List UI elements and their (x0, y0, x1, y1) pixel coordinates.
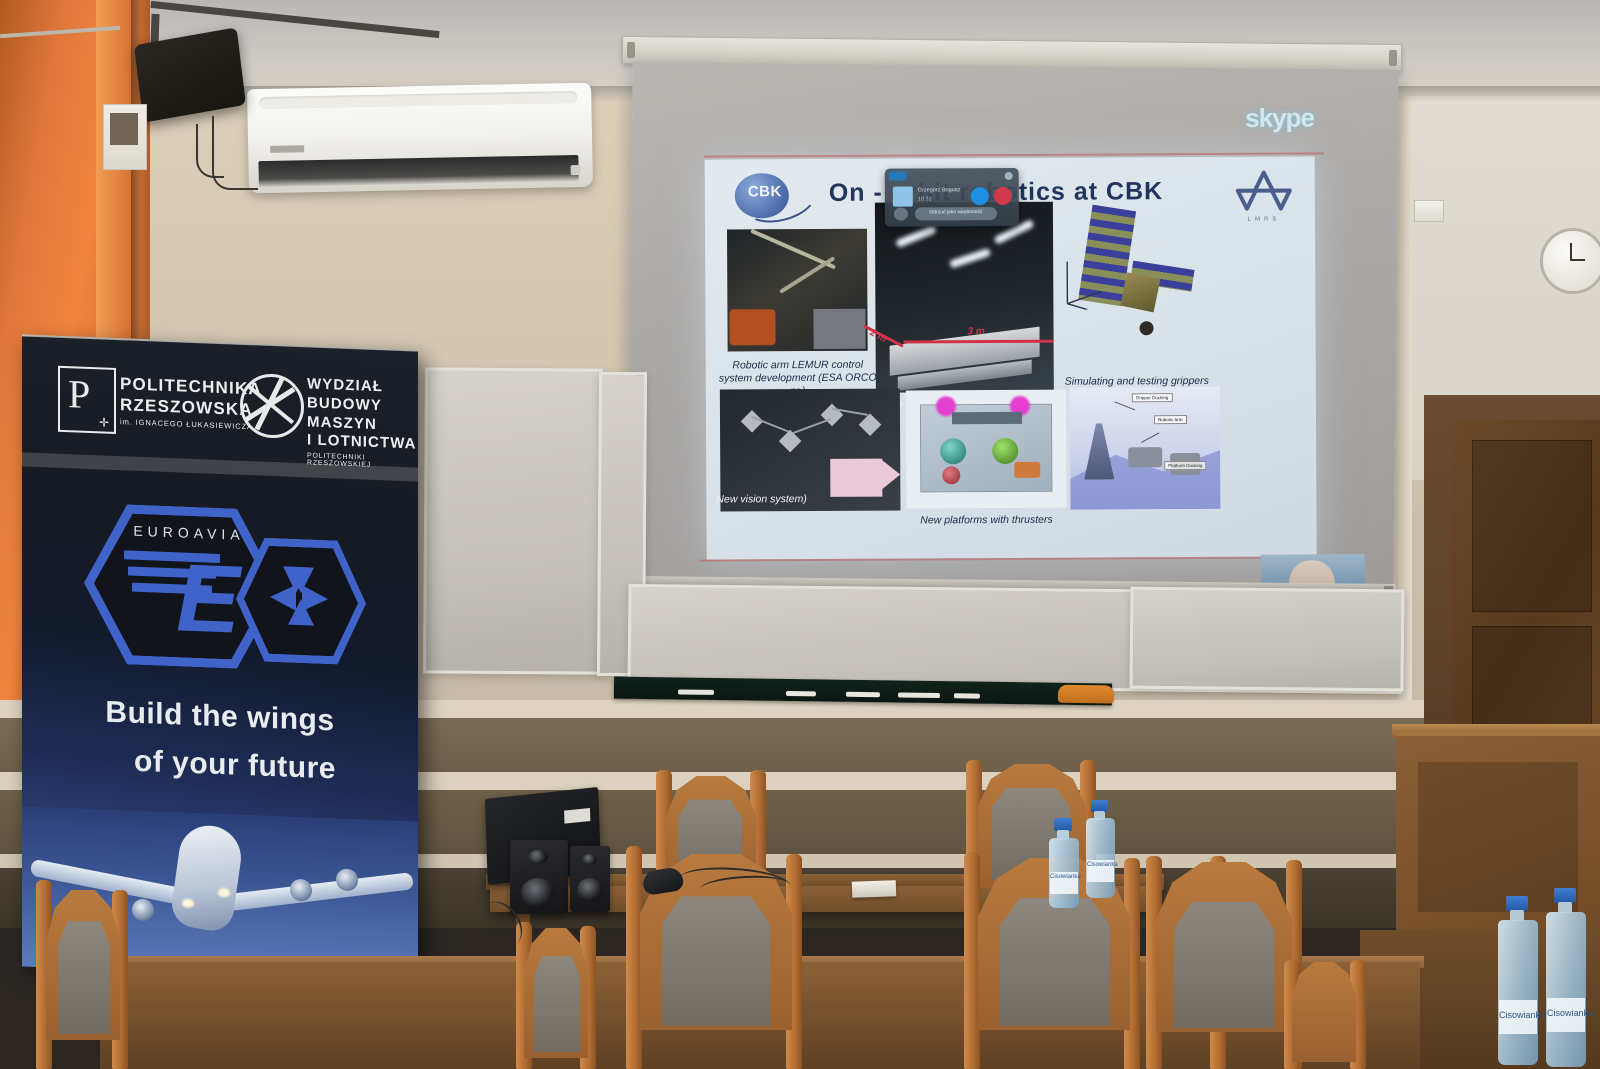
vision-marker-4 (859, 413, 882, 436)
avatar (893, 186, 913, 206)
platform-component-orange (1014, 462, 1040, 478)
berthing-tower (1084, 423, 1114, 479)
caption-thrusters: New platforms with thrusters (906, 514, 1066, 528)
satellite-bus (1120, 272, 1160, 312)
euroavia-emblem: EUROAVIA E (84, 503, 374, 694)
lecture-hall-photo: skype CBK On - orbit robotics at CBK LMR… (0, 0, 1600, 1069)
skype-incoming-call-popup[interactable]: Grzegorz Bogusz 18:31 Odrzuć jako wiadom… (885, 168, 1019, 227)
bottle-label-text: Cisowianka (1050, 874, 1078, 880)
paper-stack[interactable] (852, 880, 897, 898)
berthing-leader-2 (1141, 433, 1159, 443)
coordinate-axes-icon (1061, 255, 1105, 309)
airplane-landing-light-1 (218, 888, 230, 897)
satellite-antenna-dish (1139, 321, 1153, 335)
bottle-label-text: Cisowianka (1499, 1010, 1537, 1020)
vision-marker-2 (779, 430, 802, 453)
faculty-name-block: WYDZIAŁ BUDOWY MASZYN I LOTNICTWA POLITE… (307, 375, 418, 470)
lemur-arm-photo (727, 229, 868, 352)
door-panel-upper (1472, 440, 1592, 612)
chair-back-pad (534, 950, 580, 1052)
laptop-sticker (564, 808, 590, 824)
platform-component-green (992, 438, 1018, 464)
berthing-concept-diagram: Gripper Docking Robotic Arm Platform Doc… (1070, 387, 1221, 510)
chair-post-left (626, 846, 642, 1069)
projector-cable-2 (196, 124, 224, 178)
speaker-left-tweeter (528, 850, 548, 864)
marker-1[interactable] (678, 689, 714, 695)
faculty-name-line2: BUDOWY MASZYN (307, 394, 418, 436)
wall-box-panel (110, 113, 138, 145)
platform-component-teal (940, 438, 966, 464)
airplane-wing-right (218, 872, 414, 912)
light-switch-upper[interactable] (1414, 200, 1444, 222)
marker-4[interactable] (898, 692, 940, 698)
tagline-line2: of your future (22, 740, 418, 789)
dimension-label-3m: 3 m (968, 326, 985, 337)
airplane-engine-4 (336, 868, 358, 891)
platform-component-red (942, 466, 960, 484)
ceiling-light-glow-1 (895, 225, 937, 248)
tagline-line1: Build the wings (22, 692, 418, 741)
bottle-label-text: Cisowianka (1547, 1008, 1585, 1018)
skype-logo-icon (889, 172, 907, 181)
berthing-label-platform: Platform Docking (1164, 461, 1206, 470)
ac-vent (258, 155, 578, 187)
clock-hand-hour (1571, 259, 1585, 261)
faculty-name-line3: I LOTNICTWA (307, 432, 418, 455)
ac-indicator (571, 165, 581, 175)
ceiling-light-glow-2 (949, 248, 991, 269)
chair-backrest (1292, 962, 1356, 1062)
marker-2[interactable] (786, 691, 816, 696)
wall-utility-box (103, 104, 147, 170)
lemur-equipment-box (813, 309, 865, 349)
chair-back-pad (1174, 894, 1274, 1028)
air-conditioner (247, 83, 593, 194)
airplane-engine-3 (290, 879, 312, 902)
ac-brand-logo (270, 145, 304, 153)
euroavia-rollup-banner: P ✛ POLITECHNIKA RZESZOWSKA im. IGNACEGO… (22, 336, 418, 981)
platform-thrusters-diagram (906, 390, 1067, 509)
vision-pink-arrow (880, 459, 900, 491)
skype-reply-message-label: Odrzuć jako wiadomość (915, 209, 997, 215)
skype-call-status: 18:31 (918, 195, 932, 203)
screen-housing-end-left (627, 42, 635, 58)
screen-housing-end-right (1389, 50, 1397, 66)
pr-monogram-glyph: P (68, 374, 90, 415)
politechnika-rzeszowska-logo: P ✛ (58, 366, 116, 434)
skype-watermark: skype (1245, 103, 1314, 134)
chair-back-pad (1000, 890, 1110, 1026)
bottle-cap (1506, 896, 1528, 911)
bottle-label-text: Cisowianka (1087, 862, 1114, 868)
pr-cross-icon: ✛ (98, 416, 110, 428)
satellite-illustration (1061, 203, 1212, 374)
banner-tagline: Build the wings of your future (22, 692, 418, 789)
bottle-label: Cisowianka (1499, 1000, 1537, 1034)
chair-back-pad (58, 914, 110, 1034)
speaker-left-woofer (521, 878, 555, 908)
euroavia-monogram-e: E (176, 550, 240, 648)
speaker-right-woofer (577, 878, 603, 902)
air-bearing-facility-photo (875, 202, 1054, 393)
bottle-cap (1554, 888, 1576, 903)
whiteboard-panel-right (1129, 587, 1404, 692)
lmrs-logo-text: LMRS (1235, 216, 1293, 222)
caption-vision: New vision system) (716, 493, 856, 507)
chair-back-pad (662, 888, 770, 1026)
vision-pink-panel (830, 459, 882, 497)
whiteboard-panel-left (423, 367, 603, 674)
projection-screen: skype CBK On - orbit robotics at CBK LMR… (627, 62, 1398, 590)
lmrs-logo: LMRS (1235, 168, 1293, 220)
berthing-module-1 (1128, 447, 1162, 467)
vision-link-2 (793, 418, 831, 434)
lemur-orange-block (729, 309, 775, 345)
bottle-label: Cisowianka (1050, 872, 1078, 894)
bottle-label: Cisowianka (1087, 860, 1114, 882)
wall-clock (1540, 228, 1600, 294)
bottle-body (1546, 912, 1586, 1067)
bottle-body (1498, 920, 1538, 1065)
close-icon[interactable] (1005, 172, 1013, 180)
maltese-cross-icon (270, 566, 332, 630)
berthing-label-arm: Robotic Arm (1154, 415, 1187, 424)
video-call-icon[interactable] (971, 187, 989, 205)
presentation-slide: CBK On - orbit robotics at CBK LMRS (709, 160, 1311, 553)
airplane-fuselage (169, 821, 245, 934)
end-call-icon[interactable] (994, 187, 1012, 205)
speaker-left (510, 840, 568, 914)
platform-top-rail (952, 412, 1022, 424)
ac-intake-slit (259, 91, 577, 109)
microphone-icon[interactable] (894, 207, 908, 220)
berthing-leader-1 (1115, 401, 1136, 410)
lemur-arm-segment-2 (779, 256, 835, 294)
bottle-label: Cisowianka (1547, 998, 1585, 1032)
airplane-landing-light-2 (182, 899, 194, 908)
marker-5[interactable] (954, 693, 980, 698)
speaker-right-tweeter (582, 854, 597, 865)
berthing-label-gripper: Gripper Docking (1132, 393, 1173, 402)
bottle-body (1086, 818, 1115, 898)
lmrs-triangle-icon (1235, 168, 1293, 214)
airplane-engine-1 (132, 899, 154, 922)
skype-reply-message-button[interactable]: Odrzuć jako wiadomość (915, 207, 997, 220)
speaker-right (570, 846, 610, 912)
cbk-logo: CBK (735, 169, 797, 219)
skype-caller-name: Grzegorz Bogusz (918, 186, 961, 194)
marker-3[interactable] (846, 692, 880, 697)
whiteboard-eraser[interactable] (1058, 685, 1114, 704)
chair-post-left (964, 852, 980, 1069)
